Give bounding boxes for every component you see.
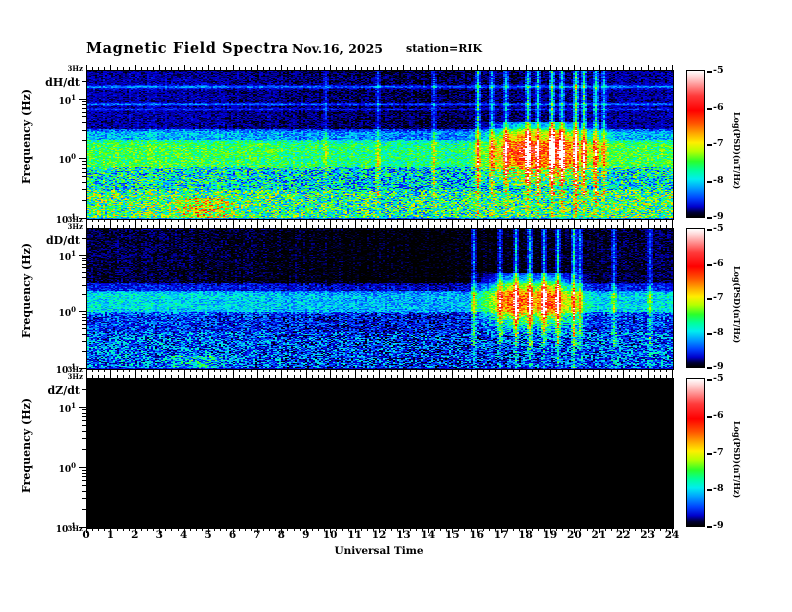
colorbar-tick — [707, 144, 712, 146]
x-axis-tick — [251, 225, 252, 228]
y-axis-tick-label: 101 — [46, 249, 76, 263]
x-axis-tick — [629, 225, 630, 228]
x-axis-tick — [245, 375, 246, 378]
x-axis-tick — [574, 223, 575, 228]
y-axis-tick-major — [79, 467, 86, 468]
x-axis-tick — [239, 369, 240, 372]
y-axis-tick-major — [79, 311, 86, 312]
page-title: Magnetic Field Spectra — [86, 40, 289, 57]
x-axis-tick — [306, 65, 307, 70]
x-axis-tick — [483, 369, 484, 372]
x-axis-tick — [318, 369, 319, 372]
y-axis-tick-minor — [82, 317, 86, 318]
x-axis-tick — [428, 223, 429, 228]
x-axis-tick — [513, 375, 514, 378]
x-axis-tick — [373, 369, 374, 372]
x-axis-tick — [104, 67, 105, 70]
x-axis-tick — [226, 219, 227, 222]
x-axis-tick — [159, 223, 160, 228]
x-axis-tick — [574, 373, 575, 378]
x-axis-tick — [312, 67, 313, 70]
spectrogram-panel-dzdt — [86, 378, 674, 529]
x-axis-tick — [507, 375, 508, 378]
colorbar-tick — [707, 379, 712, 381]
x-axis-tick — [251, 375, 252, 378]
x-axis-tick — [190, 375, 191, 378]
colorbar-dddt: -5-6-7-8-9Log(PSD)(nT/Hz) — [686, 228, 786, 368]
x-axis-tick — [410, 369, 411, 372]
x-axis-tick — [458, 369, 459, 372]
x-axis-tick — [269, 225, 270, 228]
x-axis-tick — [214, 369, 215, 372]
x-axis-tick-label: 3 — [149, 529, 169, 541]
y-axis-tick-label: 100 — [46, 461, 76, 475]
x-axis-tick — [294, 225, 295, 228]
x-axis-tick — [367, 67, 368, 70]
x-axis-tick — [361, 225, 362, 228]
x-axis-tick — [605, 375, 606, 378]
x-axis-tick-label: 21 — [589, 529, 609, 541]
y-axis-label: Frequency (Hz) — [20, 243, 33, 338]
y-axis-tick-minor — [82, 101, 86, 102]
x-axis-tick — [208, 65, 209, 70]
y-axis-tick-minor — [82, 328, 86, 329]
x-axis-tick — [342, 375, 343, 378]
colorbar-gradient — [686, 228, 705, 368]
x-axis-tick — [440, 67, 441, 70]
x-axis-tick — [330, 223, 331, 228]
x-axis-tick — [165, 67, 166, 70]
x-axis-tick — [336, 219, 337, 222]
x-axis-tick-label: 5 — [198, 529, 218, 541]
spectrogram-canvas-dhdt — [87, 71, 673, 219]
x-axis-tick — [611, 528, 612, 531]
x-axis-tick-label: 17 — [491, 529, 511, 541]
x-axis-tick — [611, 219, 612, 222]
y-axis-tick-label: 100 — [46, 305, 76, 319]
x-axis-tick — [587, 219, 588, 222]
x-axis-tick — [440, 219, 441, 222]
x-axis-tick — [275, 219, 276, 222]
x-axis-tick — [403, 65, 404, 70]
x-axis-tick — [318, 67, 319, 70]
x-axis-tick — [507, 67, 508, 70]
x-axis-tick — [489, 67, 490, 70]
x-axis-tick — [593, 219, 594, 222]
x-axis-tick — [391, 219, 392, 222]
x-axis-tick — [580, 369, 581, 372]
y-axis-tick-minor — [82, 416, 86, 417]
x-axis-tick — [367, 219, 368, 222]
x-axis-tick — [660, 225, 661, 228]
x-axis-tick — [623, 65, 624, 70]
x-axis-tick — [129, 225, 130, 228]
x-axis-tick — [367, 369, 368, 372]
x-axis-tick — [178, 369, 179, 372]
x-axis-tick — [361, 219, 362, 222]
x-axis-tick — [495, 67, 496, 70]
x-axis-tick — [660, 528, 661, 531]
x-axis-tick — [141, 225, 142, 228]
x-axis-tick — [544, 225, 545, 228]
y-axis-tick-minor — [82, 334, 86, 335]
x-axis-tick — [123, 219, 124, 222]
x-axis-tick — [452, 373, 453, 378]
x-axis-tick — [117, 225, 118, 228]
x-axis-tick — [171, 225, 172, 228]
x-axis-tick — [245, 67, 246, 70]
x-axis-tick — [538, 225, 539, 228]
colorbar-tick — [707, 229, 712, 231]
y-axis-tick-label: 100 — [46, 152, 76, 166]
x-axis-tick — [562, 225, 563, 228]
x-axis-tick — [641, 375, 642, 378]
x-axis-tick — [294, 375, 295, 378]
spectrogram-panel-dddt — [86, 228, 674, 370]
y-axis-tick-minor — [82, 485, 86, 486]
x-axis-tick — [489, 369, 490, 372]
x-axis-tick — [214, 375, 215, 378]
x-axis-tick — [617, 67, 618, 70]
x-axis-tick — [220, 528, 221, 531]
x-axis-tick — [239, 225, 240, 228]
x-axis-tick — [220, 375, 221, 378]
y-axis-tick-minor — [82, 189, 86, 190]
x-axis-tick — [526, 65, 527, 70]
x-axis-tick — [147, 219, 148, 222]
y-axis-tick-minor — [82, 122, 86, 123]
x-axis-tick — [654, 219, 655, 222]
x-axis-tick — [355, 223, 356, 228]
x-axis-tick — [422, 219, 423, 222]
x-axis-tick — [501, 373, 502, 378]
x-axis-tick — [245, 225, 246, 228]
x-axis-tick — [275, 369, 276, 372]
x-axis-tick — [477, 223, 478, 228]
x-axis-tick — [263, 369, 264, 372]
x-axis-tick-label: 23 — [638, 529, 658, 541]
x-axis-tick — [458, 375, 459, 378]
x-axis-tick — [434, 225, 435, 228]
x-axis-tick — [617, 375, 618, 378]
x-axis-tick — [129, 67, 130, 70]
x-axis-tick — [513, 225, 514, 228]
x-axis-tick — [654, 225, 655, 228]
x-axis-tick — [587, 67, 588, 70]
x-axis-tick — [269, 219, 270, 222]
x-axis-tick — [202, 369, 203, 372]
x-axis-tick — [239, 375, 240, 378]
x-axis-tick — [226, 375, 227, 378]
x-axis-tick — [477, 65, 478, 70]
x-axis-tick — [110, 373, 111, 378]
x-axis-tick — [196, 67, 197, 70]
x-axis-tick — [544, 369, 545, 372]
colorbar-tick — [707, 217, 712, 219]
x-axis-tick — [593, 67, 594, 70]
x-axis-tick — [507, 369, 508, 372]
x-axis-tick — [605, 369, 606, 372]
x-axis-tick — [495, 369, 496, 372]
x-axis-tick — [300, 225, 301, 228]
y-axis-tick-minor — [82, 476, 86, 477]
x-axis-tick — [538, 67, 539, 70]
x-axis-tick — [556, 219, 557, 222]
x-axis-tick — [287, 67, 288, 70]
y-axis-tick-minor — [82, 498, 86, 499]
y-axis-tick-minor — [82, 272, 86, 273]
x-axis-tick — [269, 528, 270, 531]
x-axis-tick — [263, 225, 264, 228]
y-axis-tick-minor — [82, 258, 86, 259]
x-axis-tick — [513, 67, 514, 70]
x-axis-tick — [580, 67, 581, 70]
colorbar-tick — [707, 108, 712, 110]
x-axis-tick — [348, 67, 349, 70]
x-axis-tick — [318, 528, 319, 531]
x-axis-tick — [464, 67, 465, 70]
x-axis-tick — [110, 65, 111, 70]
x-axis-tick — [538, 219, 539, 222]
x-axis-tick — [269, 375, 270, 378]
y-axis-tick-minor — [82, 320, 86, 321]
colorbar-tick — [707, 71, 712, 73]
x-axis-tick — [379, 373, 380, 378]
x-axis-tick — [129, 369, 130, 372]
x-axis-tick — [385, 375, 386, 378]
x-axis-tick — [171, 67, 172, 70]
x-axis-tick — [403, 223, 404, 228]
x-axis-tick — [184, 223, 185, 228]
x-axis-tick — [336, 225, 337, 228]
y-axis-tick-minor — [82, 413, 86, 414]
x-axis-tick — [318, 219, 319, 222]
x-axis-tick — [202, 225, 203, 228]
x-axis-tick — [324, 369, 325, 372]
y-axis-tick-minor — [82, 294, 86, 295]
y-axis-tick-minor — [82, 431, 86, 432]
x-axis-tick — [660, 219, 661, 222]
x-axis-tick — [226, 369, 227, 372]
x-axis-tick — [367, 225, 368, 228]
x-axis-tick — [471, 369, 472, 372]
x-axis-tick — [532, 375, 533, 378]
x-axis-tick — [599, 223, 600, 228]
x-axis-tick — [623, 373, 624, 378]
x-axis-tick — [153, 67, 154, 70]
y-axis-tick-label: 10-1 — [46, 521, 76, 535]
x-axis-tick — [379, 65, 380, 70]
x-axis-tick — [202, 219, 203, 222]
x-axis-tick — [281, 65, 282, 70]
x-axis-tick — [342, 225, 343, 228]
x-axis-tick — [220, 225, 221, 228]
x-axis-tick — [385, 67, 386, 70]
colorbar-tick — [707, 333, 712, 335]
x-axis-tick — [263, 375, 264, 378]
x-axis-tick — [153, 219, 154, 222]
colorbar-tick-label: -7 — [713, 292, 724, 303]
colorbar-tick — [707, 264, 712, 266]
x-axis-tick — [666, 369, 667, 372]
colorbar-tick-label: -8 — [713, 327, 724, 338]
x-axis-tick — [98, 225, 99, 228]
x-axis-tick — [648, 373, 649, 378]
x-axis-tick-label: 1 — [100, 529, 120, 541]
x-axis-tick — [422, 225, 423, 228]
x-axis-tick — [165, 369, 166, 372]
x-axis-tick — [355, 373, 356, 378]
x-axis-tick — [348, 375, 349, 378]
x-axis-tick — [483, 375, 484, 378]
colorbar-tick — [707, 489, 712, 491]
x-axis-tick — [306, 373, 307, 378]
x-axis-tick — [666, 67, 667, 70]
y-axis-tick-minor — [82, 351, 86, 352]
x-axis-tick — [519, 219, 520, 222]
x-axis-tick — [208, 373, 209, 378]
x-axis-tick — [660, 375, 661, 378]
x-axis-tick — [159, 65, 160, 70]
x-axis-tick — [556, 67, 557, 70]
x-axis-tick — [544, 67, 545, 70]
x-axis-tick — [135, 373, 136, 378]
x-axis-tick — [104, 375, 105, 378]
x-axis-tick — [391, 369, 392, 372]
x-axis-tick — [220, 369, 221, 372]
x-axis-tick — [184, 373, 185, 378]
x-axis-tick — [123, 369, 124, 372]
y-axis-tick-minor — [82, 168, 86, 169]
x-axis-tick-label: 13 — [393, 529, 413, 541]
x-axis-tick — [104, 219, 105, 222]
x-axis-tick — [471, 219, 472, 222]
x-axis-tick — [660, 67, 661, 70]
x-axis-tick — [324, 67, 325, 70]
x-axis-tick — [605, 225, 606, 228]
colorbar-gradient — [686, 378, 705, 527]
x-axis-tick — [92, 67, 93, 70]
y-axis-tick-minor — [82, 420, 86, 421]
x-axis-tick-label: 18 — [516, 529, 536, 541]
x-axis-tick — [635, 375, 636, 378]
x-axis-tick — [117, 375, 118, 378]
colorbar-tick — [707, 181, 712, 183]
x-axis-tick-label: 11 — [345, 529, 365, 541]
y-axis-tick-minor — [82, 112, 86, 113]
x-axis-tick — [489, 225, 490, 228]
x-axis-tick-label: 24 — [662, 529, 682, 541]
x-axis-tick — [440, 225, 441, 228]
x-axis-tick — [281, 373, 282, 378]
x-axis-tick — [294, 219, 295, 222]
y-axis-tick-label: 101 — [46, 401, 76, 415]
y-axis-tick-minor — [82, 108, 86, 109]
x-axis-tick — [92, 369, 93, 372]
x-axis-tick — [428, 65, 429, 70]
x-axis-tick — [178, 225, 179, 228]
colorbar-tick-label: -9 — [713, 361, 724, 372]
x-axis-tick — [373, 225, 374, 228]
x-axis-tick — [141, 375, 142, 378]
y-axis-label: Frequency (Hz) — [20, 89, 33, 184]
x-axis-tick — [324, 225, 325, 228]
y-axis-tick-minor — [82, 238, 86, 239]
y-axis-tick-minor — [82, 480, 86, 481]
x-axis-tick — [110, 223, 111, 228]
x-axis-tick — [568, 225, 569, 228]
frequency-range-marker: 3Hz — [47, 372, 83, 381]
x-axis-tick — [171, 528, 172, 531]
station-label: station=RIK — [406, 42, 482, 55]
x-axis-tick — [635, 528, 636, 531]
x-axis-tick — [580, 375, 581, 378]
x-axis-tick — [562, 528, 563, 531]
x-axis-tick — [464, 225, 465, 228]
x-axis-tick — [330, 65, 331, 70]
x-axis-tick — [294, 369, 295, 372]
x-axis-tick — [666, 375, 667, 378]
x-axis-tick — [300, 369, 301, 372]
colorbar-tick — [707, 416, 712, 418]
x-axis-tick — [501, 65, 502, 70]
x-axis-tick — [214, 67, 215, 70]
x-axis-tick — [312, 219, 313, 222]
x-axis-tick — [593, 225, 594, 228]
x-axis-tick — [562, 369, 563, 372]
y-axis-tick-minor — [82, 260, 86, 261]
y-axis-tick-minor — [82, 449, 86, 450]
x-axis-tick — [507, 219, 508, 222]
x-axis-tick — [98, 219, 99, 222]
x-axis-tick — [446, 219, 447, 222]
x-axis-tick-label: 9 — [296, 529, 316, 541]
x-axis-tick — [86, 65, 87, 70]
x-axis-tick — [135, 65, 136, 70]
x-axis-tick — [654, 67, 655, 70]
x-axis-tick — [153, 375, 154, 378]
x-axis-tick — [117, 67, 118, 70]
y-axis-tick-minor — [82, 104, 86, 105]
x-axis-tick — [275, 67, 276, 70]
x-axis-tick — [385, 219, 386, 222]
x-axis-tick — [489, 528, 490, 531]
panel-component-label-dhdt: dH/dt — [28, 76, 80, 89]
x-axis-tick — [599, 373, 600, 378]
x-axis-tick — [190, 225, 191, 228]
x-axis-tick — [178, 67, 179, 70]
y-axis-tick-minor — [82, 285, 86, 286]
x-axis-tick — [367, 528, 368, 531]
x-axis-tick — [129, 219, 130, 222]
x-axis-tick — [495, 225, 496, 228]
x-axis-tick — [135, 223, 136, 228]
x-axis-tick — [220, 219, 221, 222]
x-axis-tick — [464, 528, 465, 531]
y-axis-tick-major — [79, 99, 86, 100]
x-axis-tick-label: 4 — [174, 529, 194, 541]
x-axis-tick — [416, 375, 417, 378]
x-axis-tick — [373, 219, 374, 222]
x-axis-tick — [495, 375, 496, 378]
x-axis-tick — [330, 373, 331, 378]
y-axis-tick-major — [79, 218, 86, 219]
y-axis-tick-major — [79, 158, 86, 159]
x-axis-tick — [599, 65, 600, 70]
x-axis-tick — [104, 369, 105, 372]
x-axis-tick — [611, 225, 612, 228]
x-axis-tick — [593, 375, 594, 378]
